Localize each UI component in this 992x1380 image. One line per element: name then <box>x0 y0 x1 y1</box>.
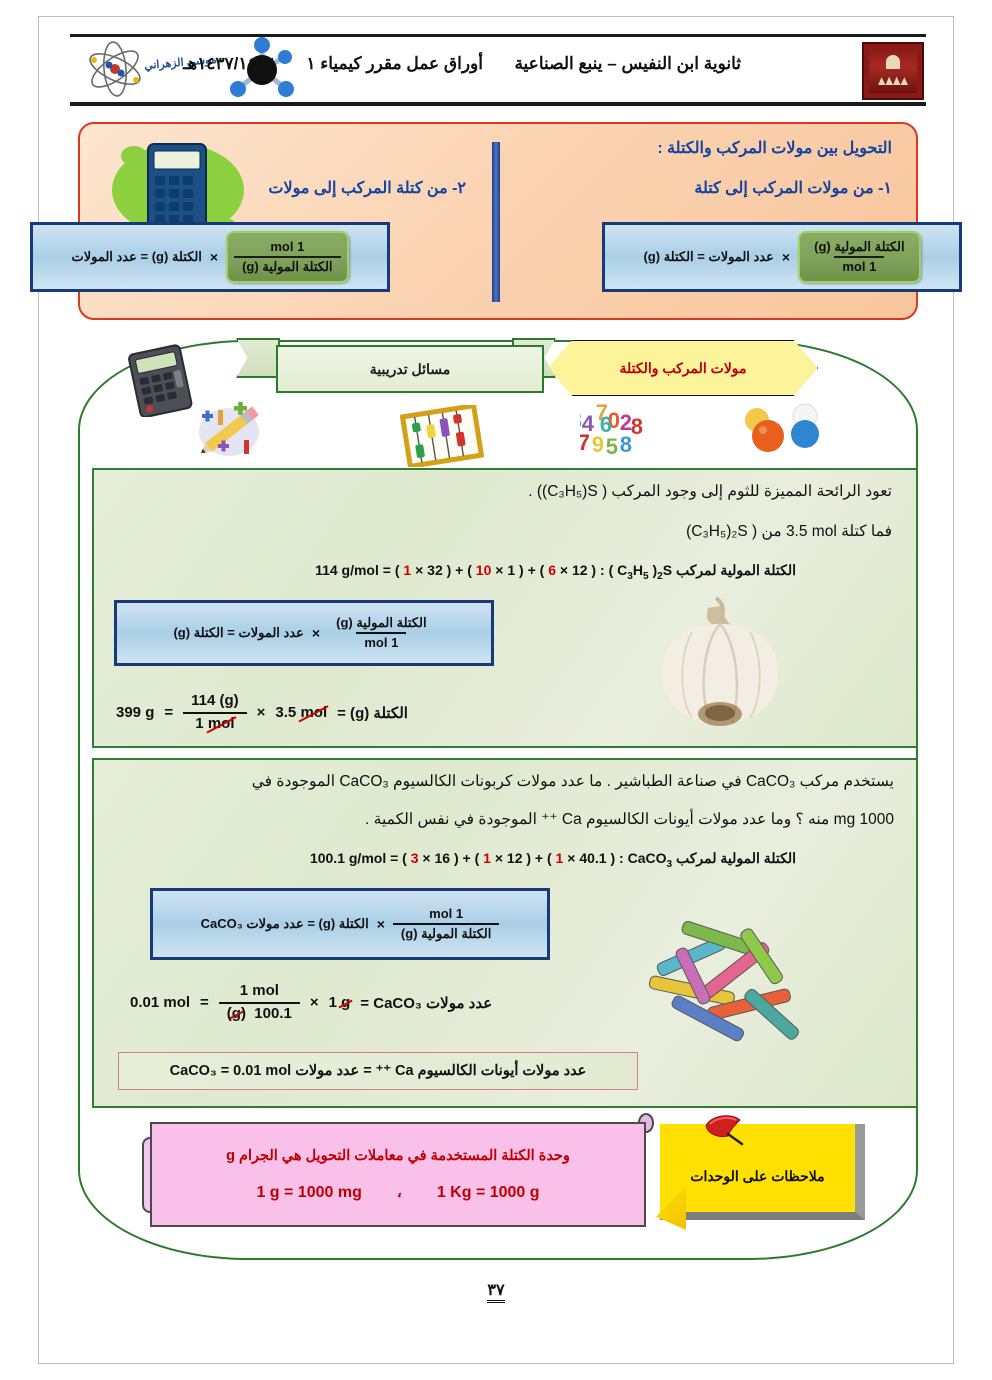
exercise-1-question-line-2: فما كتلة 3.5 mol من (C₃H₅)₂S ) <box>686 522 892 541</box>
ex1-term-0-mass: 32 <box>427 562 443 578</box>
ex2-sol-fraction: 1 mol (g) 100.1 <box>219 982 300 1024</box>
topic-hexagon-label: مولات المركب والكتلة <box>619 360 746 377</box>
ex1-sol-equals: = <box>164 704 173 721</box>
ex1-sol-value: 3.5 <box>275 704 296 721</box>
exercise-2-question-line-2: 1000 mg منه ؟ وما عدد مولات أيونات الكال… <box>365 810 894 829</box>
svg-text:5: 5 <box>606 434 618 459</box>
ex1-sol-frac-den-cancelled: mol <box>208 715 235 734</box>
exercise-1-question-line-1: تعود الرائحة المميزة للثوم إلى وجود المر… <box>528 482 892 501</box>
ex2-mm-equation: 100.1 g/mol = ( 3 × 16 ) + ( 1 × 12 ) + … <box>310 850 615 866</box>
ex2-sol-frac-den: (g) 100.1 <box>219 1002 300 1024</box>
units-sticky-note: ملاحظات على الوحدات <box>660 1124 865 1220</box>
multiply-sign: × <box>782 249 790 265</box>
ex1-term-2-coef: 6 <box>548 562 556 578</box>
ex1-q2-mid: من <box>757 523 786 540</box>
svg-text:8: 8 <box>631 414 643 439</box>
ex1-sol-value-group: 3.5 mol <box>275 704 327 721</box>
formula-2-result: الكتلة (g) = عدد المولات <box>71 249 201 265</box>
ex2-mm-sep: : <box>619 850 624 866</box>
ex2-sol-value: 1 <box>329 994 337 1011</box>
ex1-sol-frac-den: 1 mol <box>183 712 247 734</box>
units-note-line-1: وحدة الكتلة المستخدمة في معاملات التحويل… <box>152 1148 644 1164</box>
svg-text:8: 8 <box>620 432 632 457</box>
ex2-mm-label: الكتلة المولية لمركب <box>676 850 796 866</box>
ex2-sol-times: × <box>310 994 319 1011</box>
exercise-2-answer-box: عدد مولات أيونات الكالسيوم Ca ⁺⁺ = عدد م… <box>118 1052 638 1090</box>
ex1-q1-text: تعود الرائحة المميزة للثوم إلى وجود المر… <box>587 483 892 500</box>
exercise-2-molar-mass-line: الكتلة المولية لمركب CaCO3 : 100.1 g/mol… <box>310 850 796 870</box>
conversion-factor-1: الكتلة المولية (g) 1 mol <box>798 231 920 284</box>
page-header: موسى الزهراني ثانوية ابن النفيس – ينبع ا… <box>70 34 926 106</box>
ex1-term-1-mass: 1 <box>507 562 515 578</box>
exercise-2-answer-text: عدد مولات أيونات الكالسيوم Ca ⁺⁺ = عدد م… <box>170 1063 587 1079</box>
ex2-factor-denominator: الكتلة المولية (g) <box>393 923 499 942</box>
ex1-factor-numerator: الكتلة المولية (g) <box>328 615 434 632</box>
svg-text:7: 7 <box>580 430 590 455</box>
school-crest-icon <box>862 42 924 100</box>
ex2-sol-label: عدد مولات CaCO₃ = <box>360 994 492 1012</box>
conversion-item-2-label: ٢- من كتلة المركب إلى مولات <box>268 178 466 198</box>
ex2-sol-equals: = <box>200 994 209 1011</box>
practice-ribbon-label: مسائل تدريبية <box>370 361 451 378</box>
ex2-sol-answer: 0.01 mol <box>130 994 190 1011</box>
ex1-q1-formula: (C₃H₅) <box>542 483 587 501</box>
header-rule-bottom <box>70 102 926 106</box>
svg-text:9: 9 <box>592 432 604 457</box>
factor-2-denominator: الكتلة المولية (g) <box>234 256 340 275</box>
colored-numbers-icon: 3 4 7 0 6 2 8 7 9 5 8 <box>580 398 672 460</box>
formula-box-mass-to-moles: 1 mol الكتلة المولية (g) × الكتلة (g) = … <box>30 222 390 292</box>
ex2-mm-value: 100.1 g/mol <box>310 850 386 866</box>
exercise-1-molar-mass-line: الكتلة المولية لمركب ( C3H5 )2S : 114 g/… <box>315 562 796 582</box>
conversion-item-1-label: ١- من مولات المركب إلى كتلة <box>694 178 892 198</box>
units-sticky-label: ملاحظات على الوحدات <box>660 1168 855 1185</box>
ex1-mm-label: الكتلة المولية لمركب <box>676 562 796 578</box>
ex2-sol-frac-num: 1 mol <box>219 982 300 1002</box>
ex1-q2-amount: 3.5 mol <box>786 523 837 541</box>
ex2-term-2-mass: 40.1 <box>579 850 606 866</box>
ex1-term-2-mass: 12 <box>572 562 588 578</box>
header-title-line: ثانوية ابن النفيس – ينبع الصناعية أوراق … <box>183 54 741 74</box>
ex2-sol-frac-den-cancelled: g <box>232 1005 241 1024</box>
practice-ribbon-banner: مسائل تدريبية <box>276 345 544 393</box>
conversion-panel-title: التحويل بين مولات المركب والكتلة : <box>657 138 892 158</box>
colored-spheres-icon <box>735 400 825 454</box>
ex1-term-1-coef: 10 <box>476 562 492 578</box>
ex2-term-1-mass: 12 <box>507 850 523 866</box>
topic-hexagon-banner: مولات المركب والكتلة <box>548 340 818 396</box>
ex2-conversion-factor: 1 mol الكتلة المولية (g) <box>393 906 499 943</box>
ex2-formula-result: الكتلة (g) = عدد مولات CaCO₃ <box>201 916 369 932</box>
ex1-conversion-factor: الكتلة المولية (g) 1 mol <box>328 615 434 652</box>
header-school: ثانوية ابن النفيس – ينبع الصناعية <box>514 54 741 73</box>
exercise-2-formula-box: 1 mol الكتلة المولية (g) × الكتلة (g) = … <box>150 888 550 960</box>
ex2-sol-value-group: 1 g <box>329 994 351 1011</box>
ex1-term-0-coef: 1 <box>403 562 411 578</box>
ex1-multiply-sign: × <box>312 625 320 641</box>
ex2-term-0-mass: 16 <box>435 850 451 866</box>
units-note-line-2: 1 Kg = 1000 g ، 1 g = 1000 mg <box>152 1182 644 1202</box>
exercise-2-solution-line: عدد مولات CaCO₃ = 1 g × 1 mol (g) 100.1 … <box>130 982 492 1024</box>
pushpin-icon <box>700 1112 746 1146</box>
exercise-1-formula-box: الكتلة المولية (g) 1 mol × عدد المولات =… <box>114 600 494 666</box>
ex1-sol-times: × <box>257 704 266 721</box>
ex1-formula-result: عدد المولات = الكتلة (g) <box>173 625 303 641</box>
ex2-factor-numerator: 1 mol <box>421 906 471 923</box>
ex1-q2-formula: (C₃H₅)₂S ) <box>686 523 757 541</box>
factor-1-denominator: 1 mol <box>834 256 884 275</box>
panel-divider <box>492 142 500 302</box>
ex1-factor-denominator: 1 mol <box>356 632 406 651</box>
unit-separator: ، <box>397 1184 402 1201</box>
pencil-math-icon <box>190 398 268 462</box>
ex2-term-0-coef: 3 <box>411 850 419 866</box>
ex2-term-2-coef: 1 <box>556 850 564 866</box>
factor-1-numerator: الكتلة المولية (g) <box>806 239 912 256</box>
ex2-sol-unit-cancelled: g <box>341 994 350 1011</box>
units-note-scroll: وحدة الكتلة المستخدمة في معاملات التحويل… <box>150 1122 646 1227</box>
atom-icon <box>84 38 146 100</box>
header-year: ١٤٣٧/١٤٣٦هـ <box>183 54 275 73</box>
worksheet-page: موسى الزهراني ثانوية ابن النفيس – ينبع ا… <box>0 0 992 1380</box>
formula-1-result: عدد المولات = الكتلة (g) <box>643 249 773 265</box>
header-rule-top <box>70 34 926 37</box>
ex1-mm-sep: : <box>600 562 605 578</box>
conversion-factor-2: 1 mol الكتلة المولية (g) <box>226 231 348 284</box>
colored-chalk-sticks-icon <box>635 912 815 1057</box>
factor-2-numerator: 1 mol <box>262 239 312 256</box>
garlic-bulb-icon <box>640 592 800 732</box>
page-number: ٣٧ <box>0 1280 992 1300</box>
header-worksheet: أوراق عمل مقرر كيمياء ١ <box>306 54 483 73</box>
unit-conversion-kg: 1 Kg = 1000 g <box>437 1184 540 1202</box>
abacus-icon <box>400 405 484 467</box>
ex1-sol-unit-cancelled: mol <box>300 704 327 721</box>
ex2-multiply-sign: × <box>377 916 385 932</box>
ex1-sol-fraction: 114 (g) 1 mol <box>183 692 247 734</box>
unit-conversion-g: 1 g = 1000 mg <box>256 1184 361 1202</box>
ex2-mm-compound: CaCO3 <box>628 850 673 870</box>
ex1-sol-answer: 399 g <box>116 704 154 721</box>
ex1-sol-frac-num: 114 (g) <box>183 692 247 712</box>
formula-box-moles-to-mass: الكتلة المولية (g) 1 mol × عدد المولات =… <box>602 222 962 292</box>
ex1-mm-value: 114 g/mol <box>315 562 379 578</box>
exercise-1-solution-line: الكتلة (g) = 3.5 mol × 114 (g) 1 mol = 3… <box>116 692 408 734</box>
ex1-q1-tail: ) . <box>528 483 542 500</box>
ex1-q2-pre: فما كتلة <box>837 523 892 540</box>
ex1-mm-equation: 114 g/mol = ( 1 × 32 ) + ( 10 × 1 ) + ( … <box>315 562 596 578</box>
ex2-term-1-coef: 1 <box>483 850 491 866</box>
ex1-mm-compound: ( C3H5 )2S <box>609 562 673 582</box>
exercise-2-question-line-1: يستخدم مركب CaCO₃ في صناعة الطباشير . ما… <box>252 772 894 791</box>
page-number-value: ٣٧ <box>487 1282 504 1303</box>
ex1-sol-label: الكتلة (g) = <box>337 704 408 722</box>
multiply-sign: × <box>210 249 218 265</box>
